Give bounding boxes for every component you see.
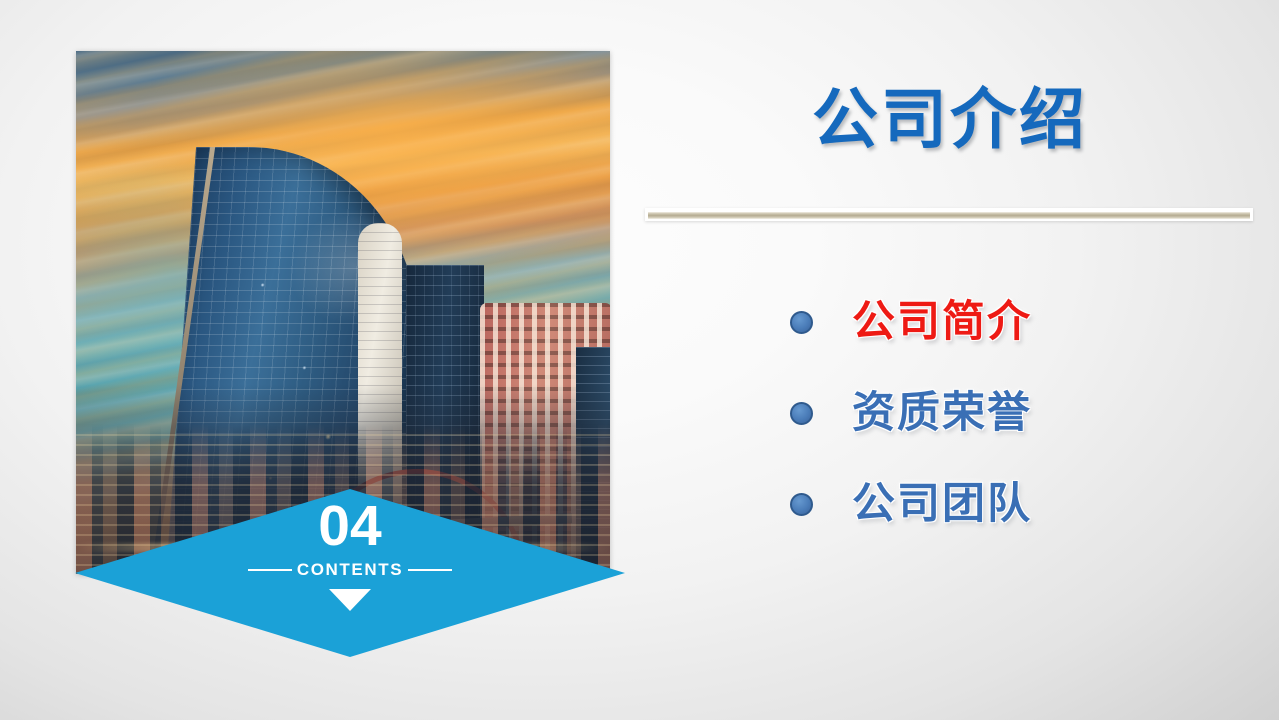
agenda-item-1[interactable]: 资质荣誉 — [790, 368, 1260, 459]
agenda-item-label: 公司简介 — [852, 301, 1032, 344]
slide-content-panel: 公司介绍 公司简介 资质荣誉 公司团队 — [645, 0, 1279, 720]
presentation-slide: 04 CONTENTS 公司介绍 公司简介 资质荣誉 公司团队 — [0, 0, 1279, 720]
agenda-item-0[interactable]: 公司简介 — [790, 277, 1260, 368]
bullet-dot-icon — [790, 311, 813, 334]
bullet-dot-icon — [790, 493, 813, 516]
page-title: 公司介绍 — [645, 86, 1255, 152]
agenda-item-label: 资质荣誉 — [852, 392, 1032, 435]
title-divider — [645, 208, 1253, 221]
bullet-dot-icon — [790, 402, 813, 425]
agenda-item-label: 公司团队 — [852, 483, 1032, 526]
agenda-list: 公司简介 资质荣誉 公司团队 — [790, 277, 1260, 550]
agenda-item-2[interactable]: 公司团队 — [790, 459, 1260, 550]
